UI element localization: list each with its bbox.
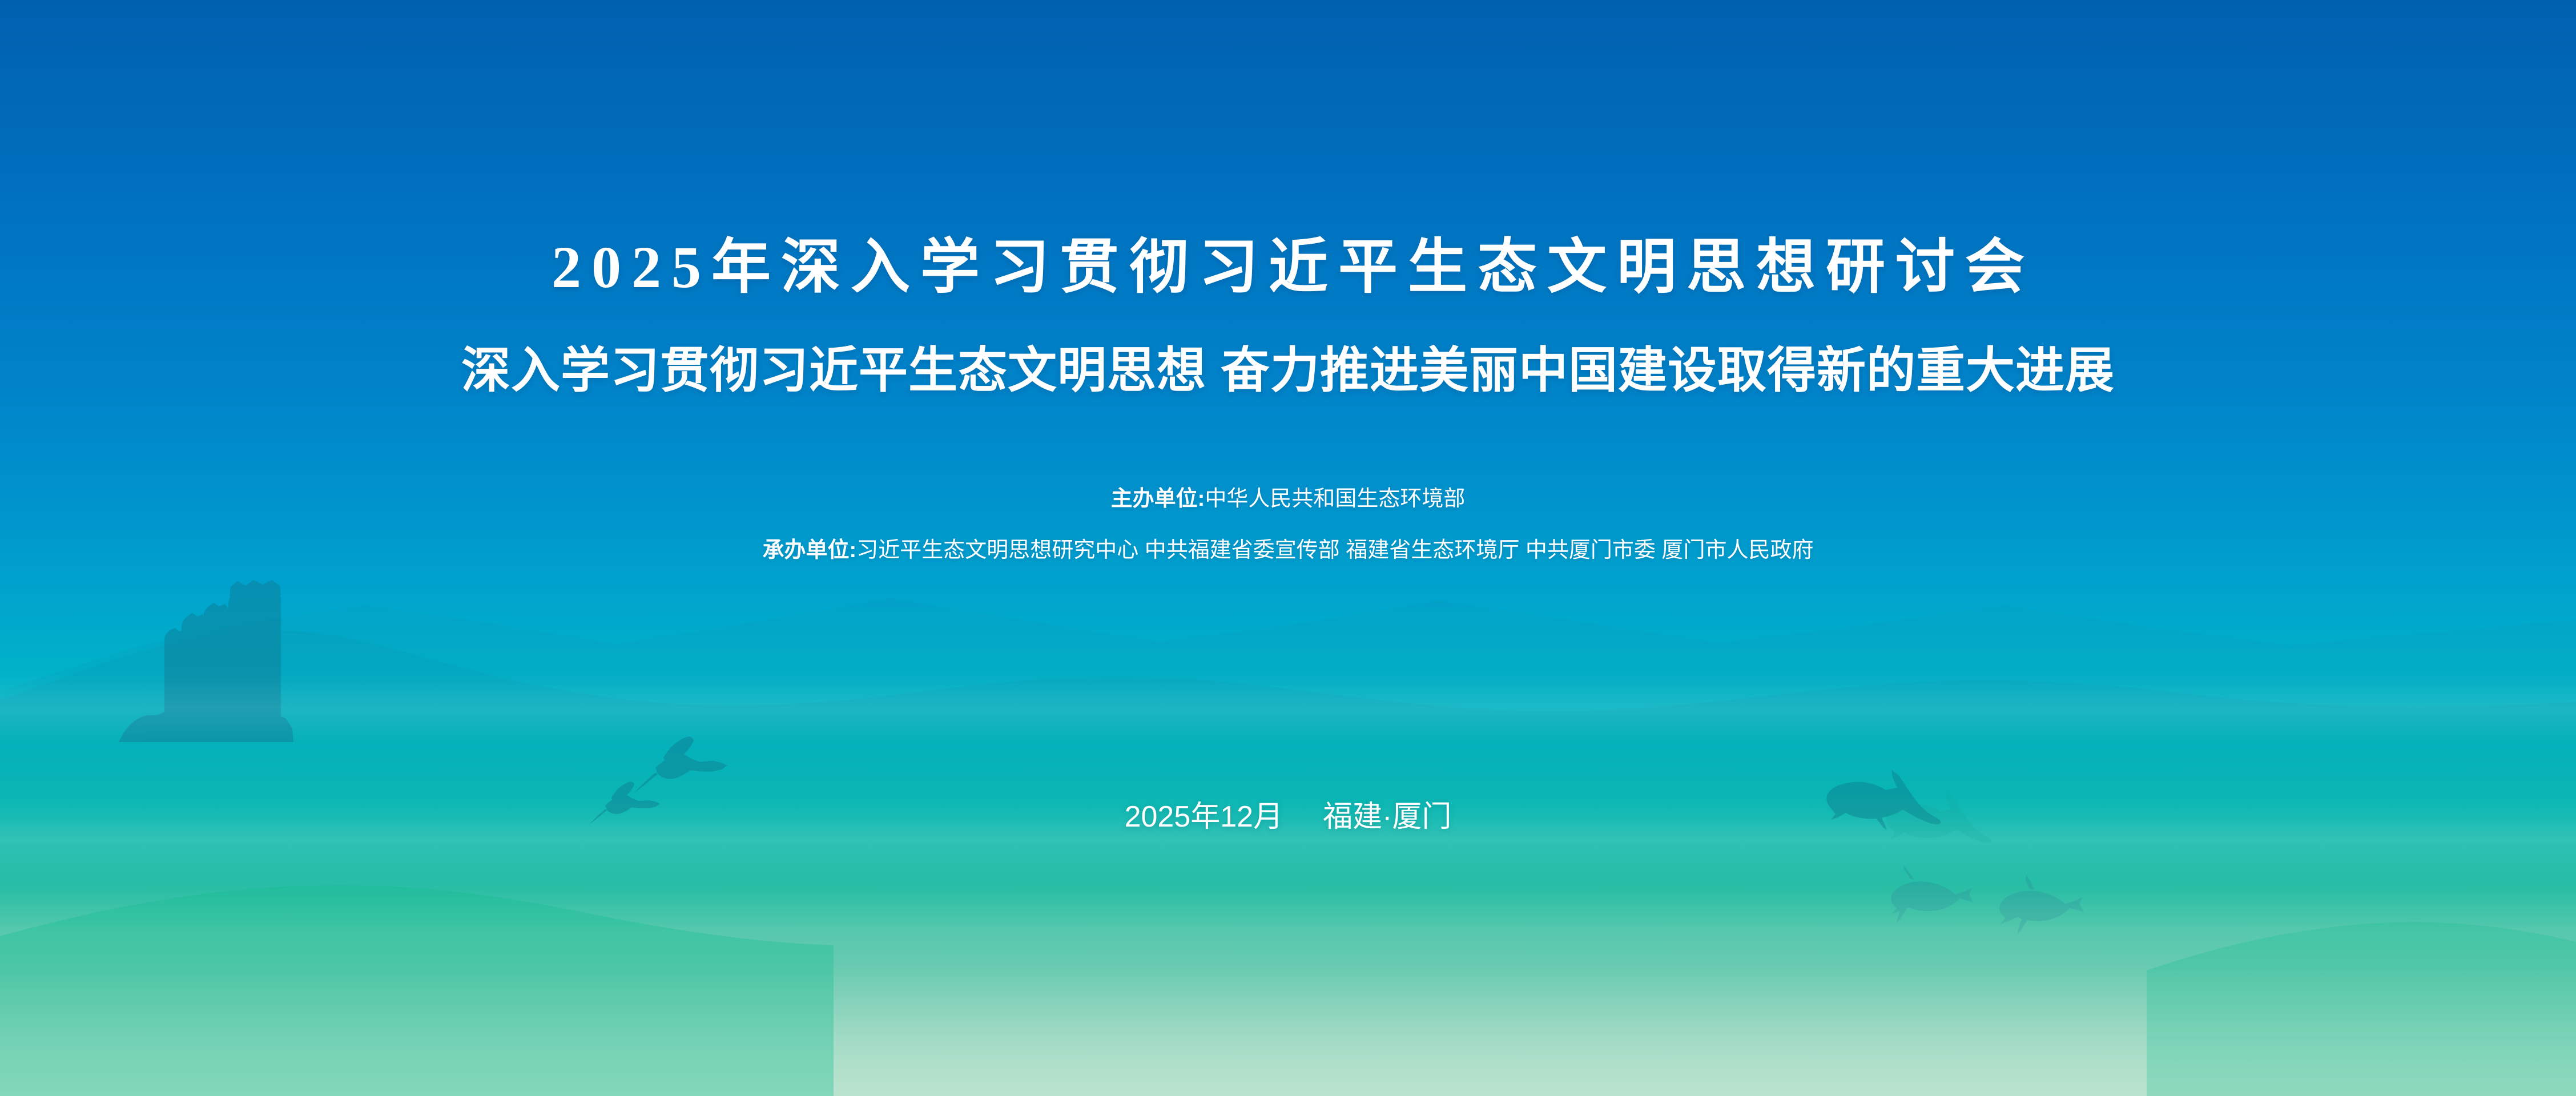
banner-text-content: 2025年深入学习贯彻习近平生态文明思想研讨会 深入学习贯彻习近平生态文明思想 … xyxy=(0,0,2576,1096)
cohost-organizer-label: 承办单位: xyxy=(763,538,857,562)
date-location-line: 2025年12月福建·厦门 xyxy=(0,798,2576,837)
banner-subtitle: 深入学习贯彻习近平生态文明思想 奋力推进美丽中国建设取得新的重大进展 xyxy=(0,341,2576,400)
cohost-organizer-line: 承办单位:习近平生态文明思想研究中心 中共福建省委宣传部 福建省生态环境厅 中共… xyxy=(0,535,2576,566)
host-organizer-line: 主办单位:中华人民共和国生态环境部 xyxy=(0,484,2576,514)
event-location: 福建·厦门 xyxy=(1323,800,1451,833)
event-date: 2025年12月 xyxy=(1125,800,1283,833)
host-organizer-label: 主办单位: xyxy=(1111,487,1205,511)
page-title: 2025年深入学习贯彻习近平生态文明思想研讨会 xyxy=(0,233,2576,303)
host-organizer-value: 中华人民共和国生态环境部 xyxy=(1205,487,1465,511)
cohost-organizer-value: 习近平生态文明思想研究中心 中共福建省委宣传部 福建省生态环境厅 中共厦门市委 … xyxy=(856,538,1813,562)
conference-banner: 2025年深入学习贯彻习近平生态文明思想研讨会 深入学习贯彻习近平生态文明思想 … xyxy=(0,0,2576,1096)
